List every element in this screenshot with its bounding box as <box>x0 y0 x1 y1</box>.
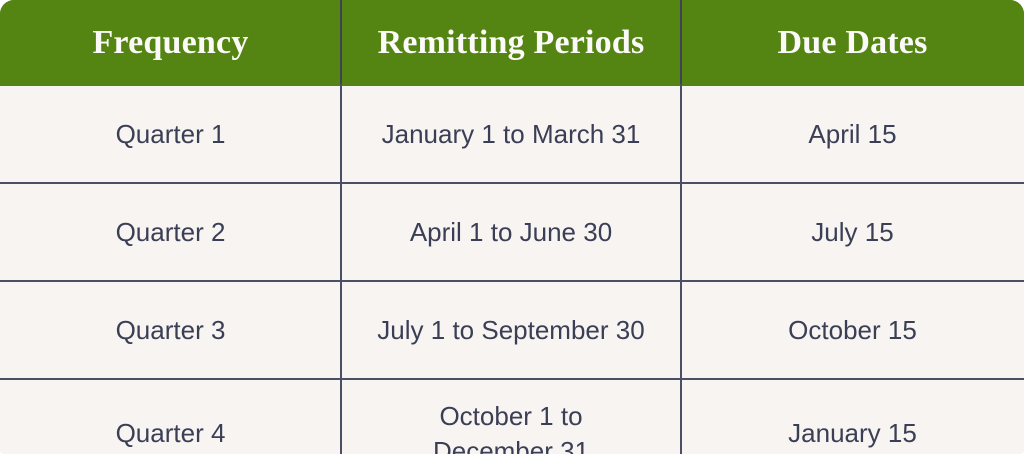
cell-frequency: Quarter 2 <box>0 183 341 281</box>
cell-remitting-period: July 1 to September 30 <box>341 281 681 379</box>
cell-remitting-period-line-1: April 1 to June 30 <box>353 215 669 249</box>
cell-frequency: Quarter 1 <box>0 86 341 183</box>
cell-frequency: Quarter 3 <box>0 281 341 379</box>
cell-due-date: January 15 <box>681 379 1024 454</box>
table-row: Quarter 2 April 1 to June 30 July 15 <box>0 183 1024 281</box>
table-row: Quarter 4 October 1 to December 31 Janua… <box>0 379 1024 454</box>
cell-remitting-period-line-1: July 1 to September 30 <box>353 313 669 347</box>
cell-due-date: July 15 <box>681 183 1024 281</box>
column-header-due-dates: Due Dates <box>681 0 1024 86</box>
cell-due-date: October 15 <box>681 281 1024 379</box>
column-header-frequency: Frequency <box>0 0 341 86</box>
table-header-row: Frequency Remitting Periods Due Dates <box>0 0 1024 86</box>
cell-remitting-period: April 1 to June 30 <box>341 183 681 281</box>
remittance-schedule-table-container: Frequency Remitting Periods Due Dates Qu… <box>0 0 1024 454</box>
cell-frequency: Quarter 4 <box>0 379 341 454</box>
cell-remitting-period-line-2: December 31 <box>353 434 669 454</box>
cell-due-date: April 15 <box>681 86 1024 183</box>
cell-remitting-period-line-1: October 1 to <box>353 399 669 433</box>
cell-remitting-period-line-1: January 1 to March 31 <box>353 117 669 151</box>
table-row: Quarter 1 January 1 to March 31 April 15 <box>0 86 1024 183</box>
remittance-schedule-table: Frequency Remitting Periods Due Dates Qu… <box>0 0 1024 454</box>
table-header: Frequency Remitting Periods Due Dates <box>0 0 1024 86</box>
table-row: Quarter 3 July 1 to September 30 October… <box>0 281 1024 379</box>
cell-remitting-period: October 1 to December 31 <box>341 379 681 454</box>
cell-remitting-period: January 1 to March 31 <box>341 86 681 183</box>
table-body: Quarter 1 January 1 to March 31 April 15… <box>0 86 1024 454</box>
column-header-remitting-periods: Remitting Periods <box>341 0 681 86</box>
